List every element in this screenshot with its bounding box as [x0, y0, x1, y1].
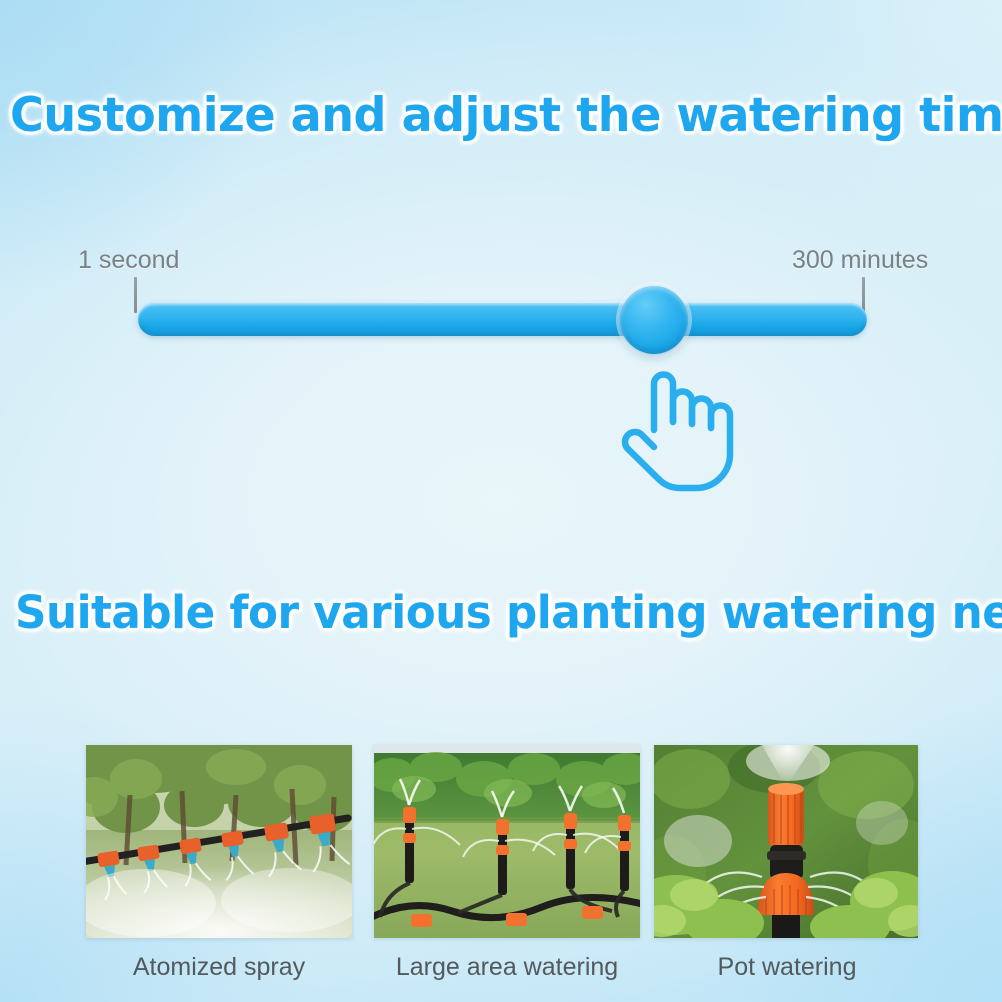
- gallery-caption: Atomized spray: [86, 953, 352, 982]
- gallery-caption: Pot watering: [654, 953, 920, 982]
- photo-pot-watering: [654, 745, 918, 938]
- gallery-card-pot-watering[interactable]: Pot watering: [654, 745, 920, 982]
- gallery-caption: Large area watering: [374, 953, 640, 982]
- page-title-secondary: Suitable for various planting watering n…: [15, 586, 987, 639]
- product-feature-page: Customize and adjust the watering time 1…: [0, 0, 1002, 1002]
- slider-min-label: 1 second: [78, 246, 179, 275]
- slider-max-label: 300 minutes: [792, 246, 928, 275]
- photo-large-area-watering: [374, 745, 640, 938]
- gallery-card-large-area-watering[interactable]: Large area watering: [374, 745, 640, 982]
- photo-atomized-spray: [86, 745, 352, 938]
- usage-scenario-gallery: Atomized spray: [0, 745, 1002, 995]
- slider-min-tick: [134, 277, 137, 313]
- page-title-primary: Customize and adjust the watering time: [10, 88, 992, 143]
- slider-track[interactable]: [138, 303, 867, 336]
- pointing-hand-cursor-icon: [608, 368, 740, 492]
- slider-knob[interactable]: [620, 286, 688, 354]
- gallery-card-atomized-spray[interactable]: Atomized spray: [86, 745, 352, 982]
